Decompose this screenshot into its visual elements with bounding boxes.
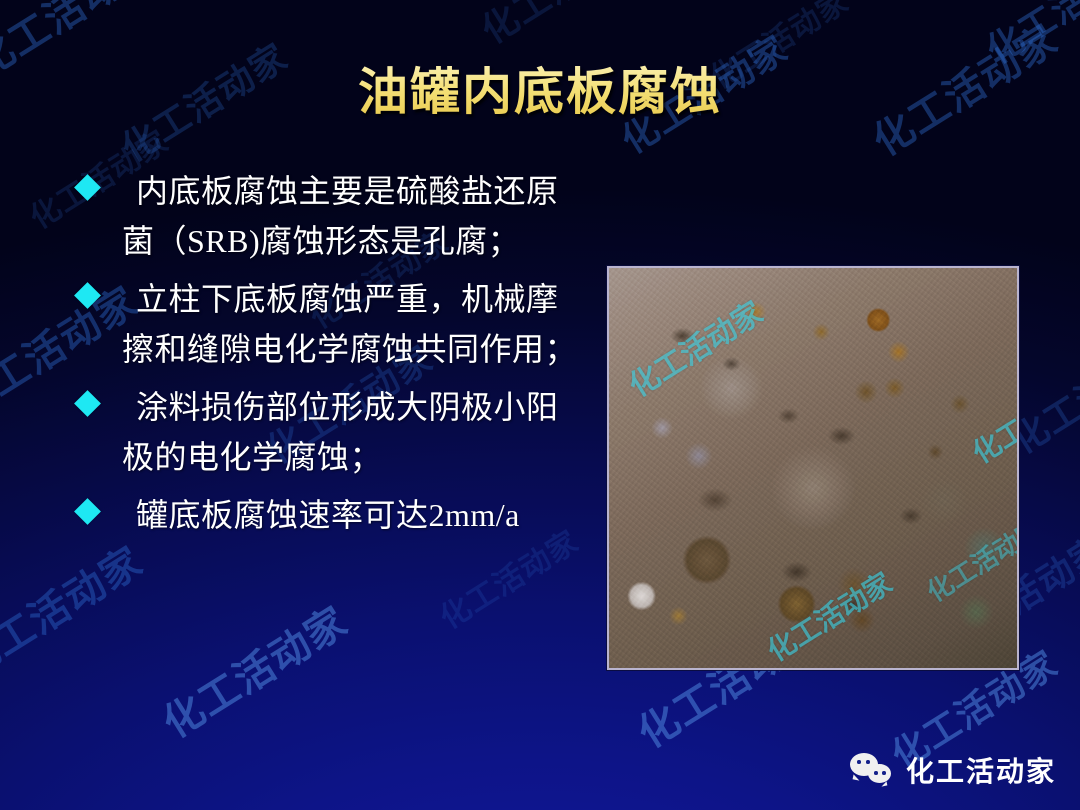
bullet-text: 内底板腐蚀主要是硫酸盐还原菌（SRB)腐蚀形态是孔腐； <box>122 166 584 266</box>
diamond-bullet-icon <box>74 498 101 525</box>
bullet-item: 内底板腐蚀主要是硫酸盐还原菌（SRB)腐蚀形态是孔腐； <box>74 166 584 266</box>
brand-name: 化工活动家 <box>906 750 1056 790</box>
presentation-slide: 化工活动家 化工活动家 化工活动家 化工活动家 化工活动家 化工活动家 化工活动… <box>0 0 1080 810</box>
diamond-bullet-icon <box>74 390 101 417</box>
bullet-list: 内底板腐蚀主要是硫酸盐还原菌（SRB)腐蚀形态是孔腐； 立柱下底板腐蚀严重，机械… <box>74 166 584 548</box>
diamond-bullet-icon <box>74 174 101 201</box>
bullet-text: 罐底板腐蚀速率可达2mm/a <box>122 490 584 540</box>
diamond-bullet-icon <box>74 282 101 309</box>
slide-title: 油罐内底板腐蚀 <box>0 52 1080 124</box>
watermark: 化工活动家 <box>0 530 152 689</box>
watermark: 化工活动家 <box>470 0 656 54</box>
slide-title-text: 油罐内底板腐蚀 <box>358 52 722 124</box>
bullet-item: 罐底板腐蚀速率可达2mm/a <box>74 490 584 540</box>
wechat-icon <box>850 752 896 788</box>
watermark: 化工活动家 <box>150 590 357 749</box>
bullet-text: 涂料损伤部位形成大阴极小阳极的电化学腐蚀； <box>122 382 584 482</box>
corrosion-photo: 化工活动家 化工活动家 化工活动家 化工活动家 <box>607 266 1019 670</box>
bullet-item: 涂料损伤部位形成大阴极小阳极的电化学腐蚀； <box>74 382 584 482</box>
brand-footer: 化工活动家 <box>850 750 1056 790</box>
bullet-text: 立柱下底板腐蚀严重，机械摩擦和缝隙电化学腐蚀共同作用； <box>122 274 584 374</box>
bullet-item: 立柱下底板腐蚀严重，机械摩擦和缝隙电化学腐蚀共同作用； <box>74 274 584 374</box>
